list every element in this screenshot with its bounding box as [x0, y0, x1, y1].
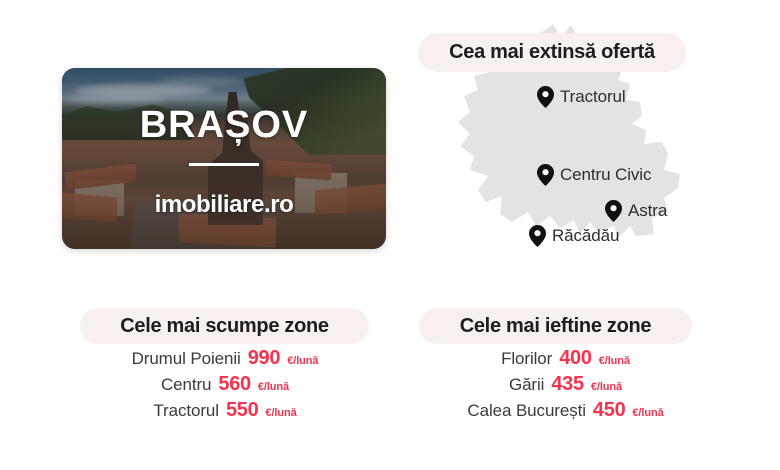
zone-name: Centru	[161, 375, 211, 395]
zone-name: Gării	[509, 375, 544, 395]
heading-cheapest-zones: Cele mai ieftine zone	[419, 308, 692, 344]
zone-name: Florilor	[501, 349, 552, 369]
map-pin-icon	[537, 86, 554, 108]
zone-name: Tractorul	[153, 401, 219, 421]
zone-price: 560	[218, 373, 250, 396]
heading-most-extensive-offer: Cea mai extinsă ofertă	[418, 33, 686, 72]
zone-price: 450	[593, 399, 625, 422]
zone-unit: €/lună	[265, 407, 296, 419]
zone-unit: €/lună	[599, 355, 630, 367]
zone-unit: €/lună	[632, 407, 663, 419]
price-row: Calea București 450 €/lună	[467, 399, 663, 425]
zone-name: Calea București	[467, 401, 586, 421]
zone-price: 990	[248, 347, 280, 370]
map-pin-label: Centru Civic	[560, 165, 651, 185]
heading-most-expensive-zones: Cele mai scumpe zone	[80, 308, 369, 344]
map-pin-racadau[interactable]: Răcădău	[529, 225, 619, 247]
price-row: Tractorul 550 €/lună	[153, 399, 296, 425]
zone-price: 435	[551, 373, 583, 396]
zone-name: Drumul Poienii	[132, 349, 241, 369]
cheapest-zones-list: Florilor 400 €/lună Gării 435 €/lună Cal…	[358, 347, 773, 425]
card-text-block: BRAȘOV imobiliare.ro	[62, 68, 386, 249]
city-name: BRAȘOV	[140, 106, 309, 144]
zone-unit: €/lună	[258, 381, 289, 393]
infographic-canvas: BRAȘOV imobiliare.ro Tractorul Centru Ci…	[0, 0, 780, 470]
zone-unit: €/lună	[287, 355, 318, 367]
map-pin-icon	[605, 200, 622, 222]
zone-price: 400	[559, 347, 591, 370]
map-pin-icon	[529, 225, 546, 247]
price-row: Drumul Poienii 990 €/lună	[132, 347, 319, 373]
price-row: Centru 560 €/lună	[161, 373, 289, 399]
zone-price: 550	[226, 399, 258, 422]
city-photo-card: BRAȘOV imobiliare.ro	[62, 68, 386, 249]
card-divider	[189, 163, 259, 166]
price-row: Florilor 400 €/lună	[501, 347, 630, 373]
zone-unit: €/lună	[591, 381, 622, 393]
brand-logo-text: imobiliare.ro	[155, 191, 294, 219]
price-row: Gării 435 €/lună	[509, 373, 622, 399]
map-pin-tractorul[interactable]: Tractorul	[537, 86, 626, 108]
map-pin-label: Astra	[628, 201, 667, 221]
map-pin-icon	[537, 164, 554, 186]
map-pin-centru-civic[interactable]: Centru Civic	[537, 164, 651, 186]
map-pin-label: Răcădău	[552, 226, 619, 246]
map-pin-label: Tractorul	[560, 87, 626, 107]
map-pin-astra[interactable]: Astra	[605, 200, 667, 222]
